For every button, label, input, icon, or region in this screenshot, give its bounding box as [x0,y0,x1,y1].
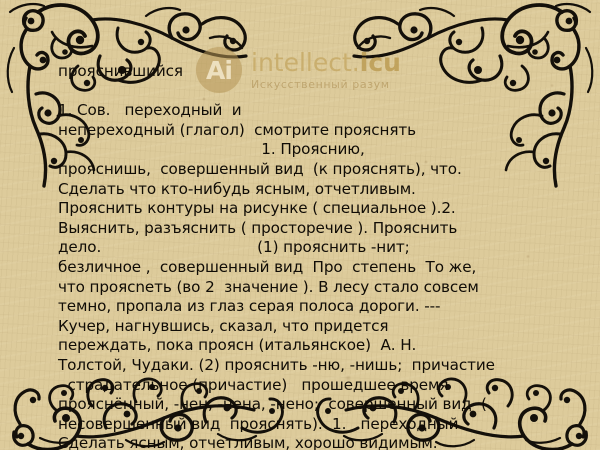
entry-line: Сделать ясным, отчетливым, хорошо видимы… [58,434,558,450]
entry-line: прояснённый, -нен, -нена, -нено; соверше… [58,395,558,415]
entry-line: прояснишь, совершенный вид (к прояснять)… [58,160,558,180]
dictionary-entry-text: прояснившийся1. Сов. переходный инеперех… [58,62,558,450]
entry-line: темно, пропала из глаз серая полоса доро… [58,297,558,317]
entry-line: страдательное (причастие) прошедшее врем… [58,376,558,396]
entry-line: безличное , совершенный вид Про степень … [58,258,558,278]
entry-line: Выяснить, разъяснить ( просторечие ). Пр… [58,219,558,239]
entry-headword: прояснившийся [58,62,558,82]
entry-line: 1. Сов. переходный и [58,101,558,121]
entry-line: Кучер, нагнувшись, сказал, что придется [58,317,558,337]
entry-line: непереходный (глагол) смотрите прояснять [58,121,558,141]
entry-line: несовершенный вид прояснять). 1. переход… [58,415,558,435]
entry-line: Толстой, Чудаки. (2) прояснить -ню, -ниш… [58,356,558,376]
entry-spacer [58,82,558,102]
entry-line: переждать, пока проясн (итальянское) А. … [58,336,558,356]
entry-line: дело. (1) прояснить -нит; [58,238,558,258]
entry-line: что проясneть (во 2 значение ). В лесу с… [58,278,558,298]
entry-line: Сделать что кто-нибудь ясным, отчетливым… [58,180,558,200]
entry-line: 1. Прояснию, [58,140,558,160]
entry-line: Прояснить контуры на рисунке ( специальн… [58,199,558,219]
slide-canvas: Ai intellect.icu Искусственный разум про… [0,0,600,450]
